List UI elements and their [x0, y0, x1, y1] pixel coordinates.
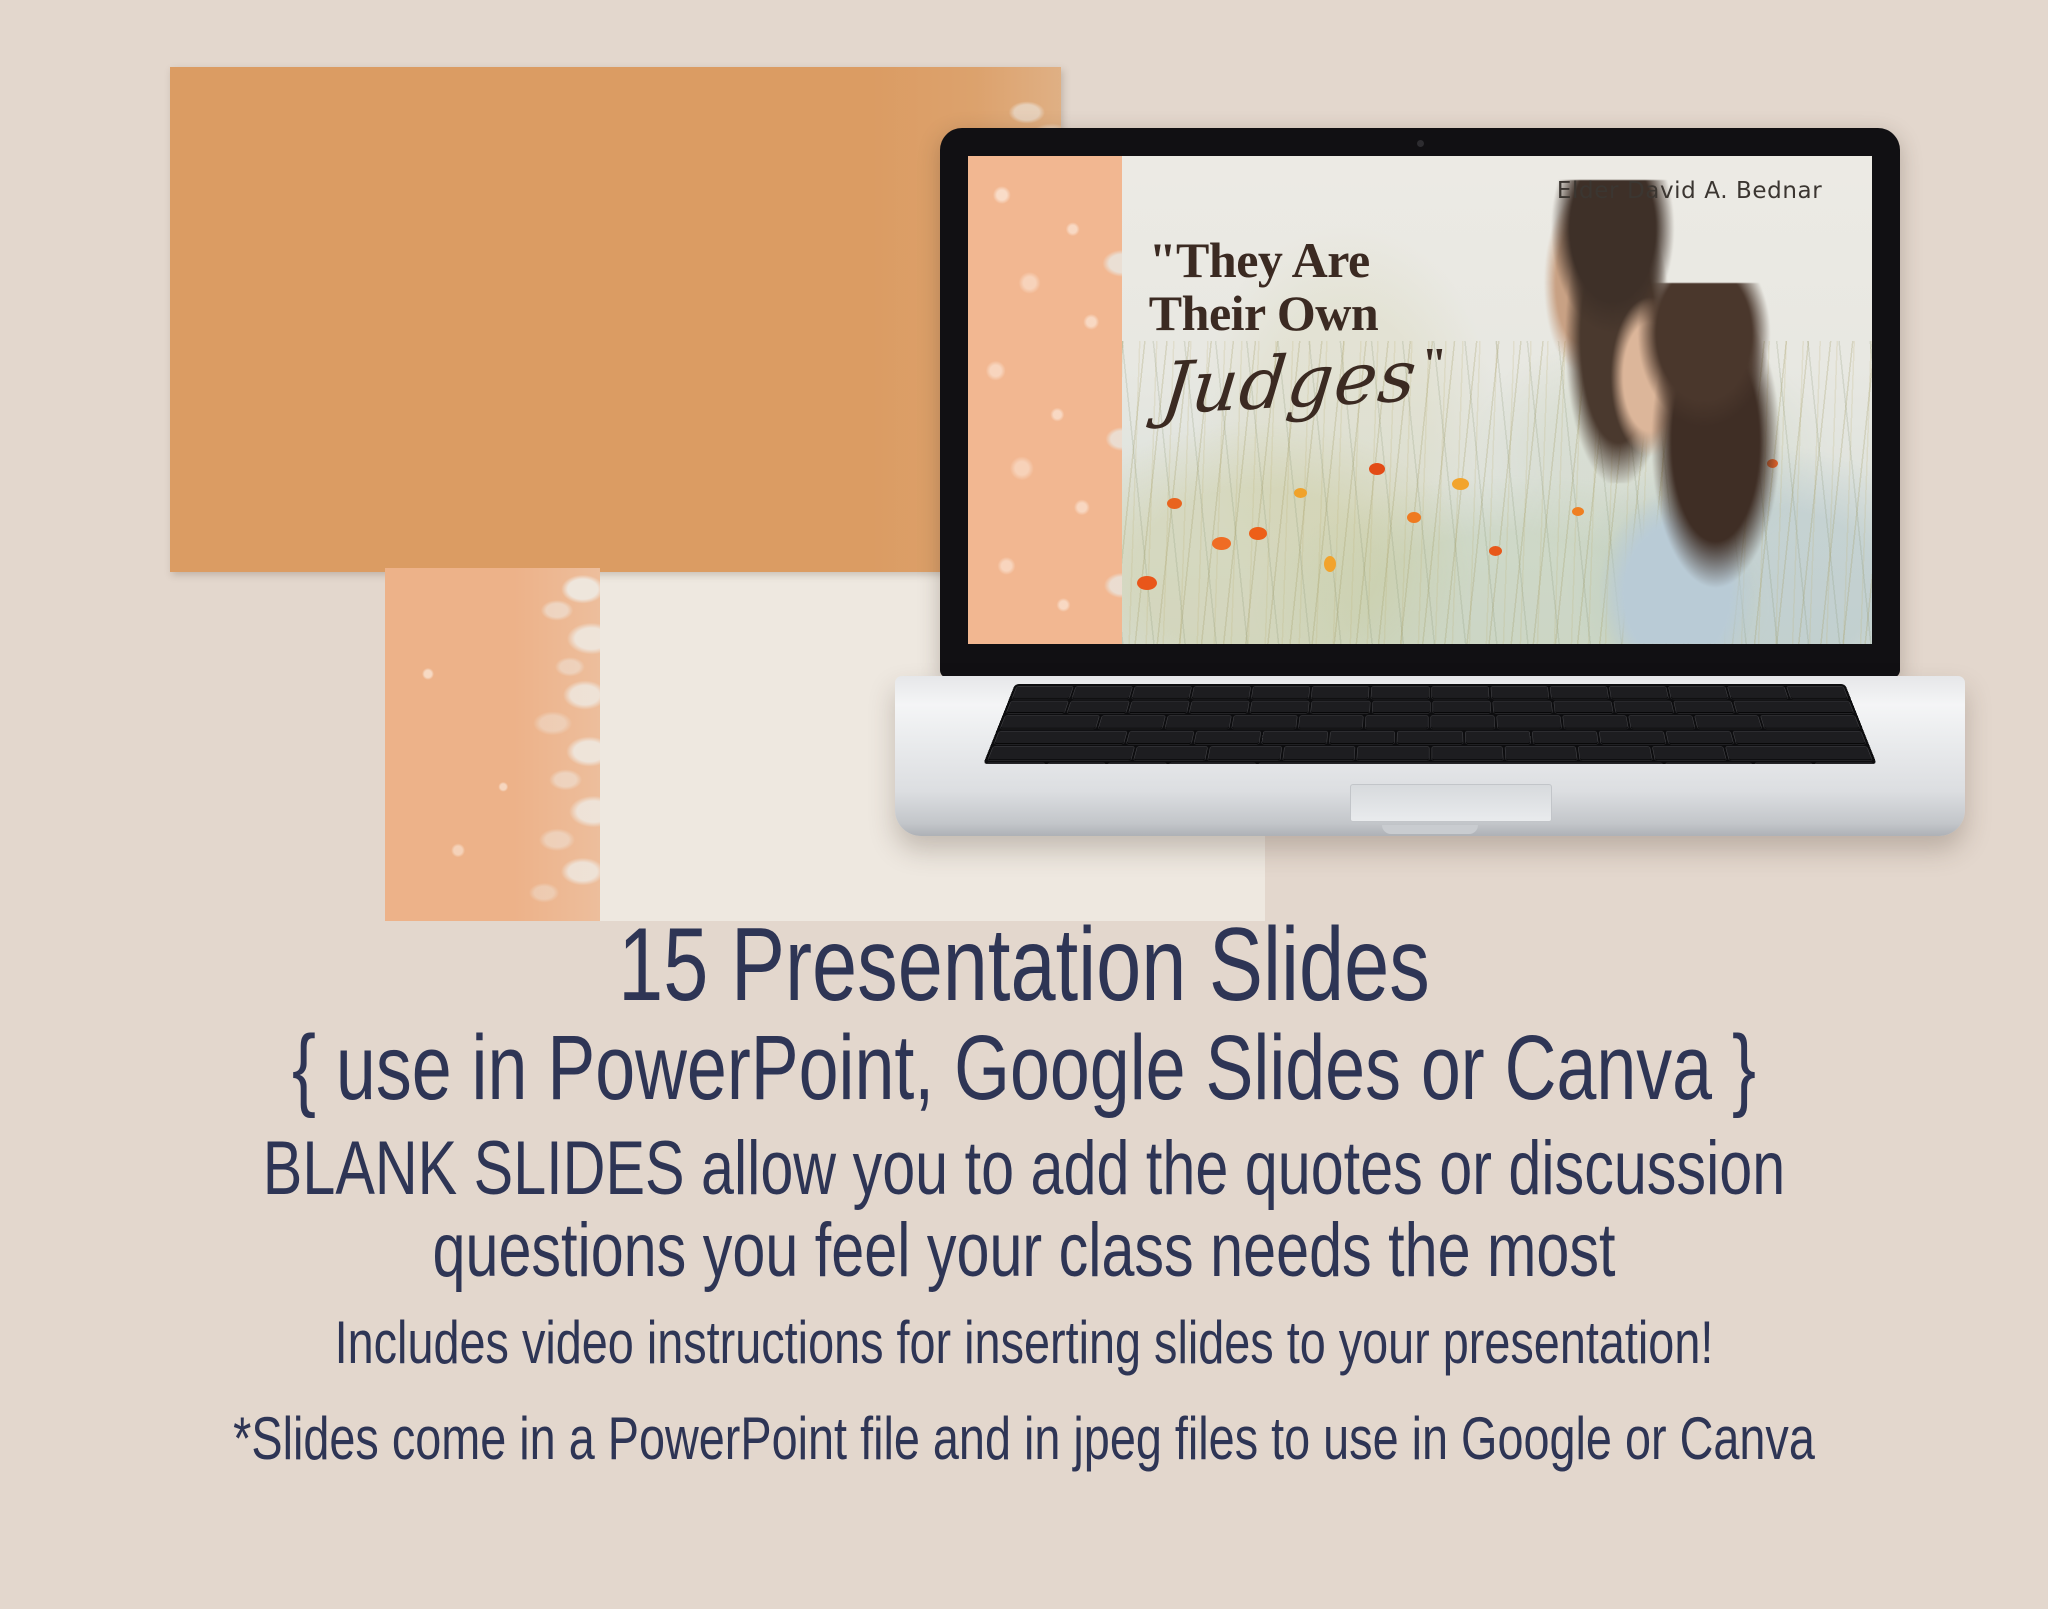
laptop-keyboard — [983, 684, 1877, 764]
key[interactable] — [1493, 701, 1552, 713]
poppy-flower-icon — [1452, 478, 1469, 490]
keyboard-row — [1007, 701, 1854, 713]
key[interactable] — [1194, 731, 1261, 744]
key[interactable] — [1465, 731, 1530, 744]
tab-key[interactable] — [1001, 716, 1100, 729]
keyboard-row — [1012, 686, 1847, 698]
key[interactable] — [1007, 701, 1069, 713]
key[interactable] — [1668, 686, 1728, 698]
slide-credit-text: Elder David A. Bednar — [1557, 178, 1822, 204]
key[interactable] — [1357, 747, 1428, 760]
key[interactable] — [1432, 716, 1495, 729]
figure-woman — [1596, 283, 1789, 644]
key[interactable] — [1208, 747, 1281, 760]
space-key[interactable] — [1257, 763, 1665, 764]
key[interactable] — [1432, 747, 1503, 760]
key[interactable] — [1012, 686, 1073, 698]
shift-key[interactable] — [1726, 747, 1872, 760]
key[interactable] — [1283, 747, 1355, 760]
peach-texture — [385, 568, 600, 921]
key[interactable] — [1134, 747, 1208, 760]
product-mockup-hero: Elder David A. Bednar "They Are Their Ow… — [0, 0, 2048, 930]
footnote: *Slides come in a PowerPoint file and in… — [225, 1406, 1822, 1472]
slide-title-line-2: Their Own — [1149, 287, 1511, 340]
key[interactable] — [1072, 686, 1132, 698]
shift-key[interactable] — [988, 747, 1134, 760]
key[interactable] — [1252, 686, 1310, 698]
key[interactable] — [1067, 701, 1128, 713]
poppy-flower-icon — [1212, 537, 1231, 550]
keyboard-row — [994, 731, 1865, 744]
key[interactable] — [1127, 731, 1194, 744]
key[interactable] — [1629, 716, 1695, 729]
option-key[interactable] — [1755, 763, 1817, 764]
slide-strip-texture — [968, 156, 1122, 644]
key[interactable] — [1666, 731, 1733, 744]
fn-key[interactable] — [983, 763, 1044, 764]
key[interactable] — [1599, 731, 1666, 744]
slide-peach-strip — [968, 156, 1122, 644]
key[interactable] — [1262, 731, 1328, 744]
key[interactable] — [1432, 686, 1489, 698]
key[interactable] — [1372, 686, 1429, 698]
key[interactable] — [1099, 716, 1166, 729]
poppy-flower-icon — [1407, 512, 1421, 523]
key[interactable] — [1491, 686, 1549, 698]
laptop-lid: Elder David A. Bednar "They Are Their Ow… — [940, 128, 1900, 678]
key[interactable] — [1398, 731, 1463, 744]
capslock-key[interactable] — [994, 731, 1127, 744]
slide-figures-illustration — [1527, 156, 1872, 644]
key[interactable] — [1550, 686, 1608, 698]
peach-watercolor-band — [385, 568, 600, 921]
key[interactable] — [1497, 716, 1561, 729]
key[interactable] — [1192, 686, 1251, 698]
key[interactable] — [1165, 716, 1231, 729]
poppy-flower-icon — [1294, 488, 1307, 498]
key[interactable] — [1505, 747, 1577, 760]
slide-title: "They Are Their Own Judges" — [1149, 234, 1511, 418]
slide-title-closing-quote: " — [1422, 338, 1447, 389]
backspace-key[interactable] — [1734, 701, 1853, 713]
laptop-trackpad[interactable] — [1350, 784, 1552, 822]
key[interactable] — [1609, 686, 1668, 698]
key[interactable] — [1614, 701, 1674, 713]
key[interactable] — [1312, 686, 1370, 698]
option-key[interactable] — [1105, 763, 1166, 764]
body-line-3: Includes video instructions for insertin… — [225, 1310, 1822, 1376]
body-line-2: questions you feel your class needs the … — [225, 1210, 1822, 1292]
laptop-screen: Elder David A. Bednar "They Are Their Ow… — [968, 156, 1872, 644]
key[interactable] — [1579, 747, 1652, 760]
control-key[interactable] — [1043, 763, 1105, 764]
key[interactable] — [1330, 731, 1395, 744]
key[interactable] — [1250, 701, 1309, 713]
key[interactable] — [1695, 716, 1762, 729]
key[interactable] — [1311, 701, 1370, 713]
slide-title-line-1: "They Are — [1149, 234, 1511, 287]
laptop-mockup: Elder David A. Bednar "They Are Their Ow… — [895, 128, 1965, 888]
poppy-flower-icon — [1249, 527, 1267, 540]
key[interactable] — [1189, 701, 1249, 713]
keyboard-row — [988, 747, 1872, 760]
key[interactable] — [1563, 716, 1628, 729]
command-key[interactable] — [1166, 763, 1256, 764]
key[interactable] — [1652, 747, 1726, 760]
slide-title-script-word: Judges — [1158, 340, 1420, 425]
keyboard-row — [983, 763, 1877, 764]
key[interactable] — [1372, 701, 1430, 713]
laptop-base — [895, 676, 1965, 836]
key[interactable] — [1553, 701, 1612, 713]
key[interactable] — [1674, 701, 1735, 713]
key[interactable] — [1132, 686, 1192, 698]
key[interactable] — [1433, 701, 1491, 713]
laptop-front-notch — [1382, 825, 1478, 834]
poppy-flower-icon — [1137, 576, 1157, 590]
headline: 15 Presentation Slides — [225, 912, 1822, 1018]
body-line-1: BLANK SLIDES allow you to add the quotes… — [225, 1128, 1822, 1210]
keyboard-row — [1001, 716, 1860, 729]
key[interactable] — [1532, 731, 1598, 744]
return-key[interactable] — [1733, 731, 1866, 744]
key[interactable] — [1365, 716, 1428, 729]
key[interactable] — [1760, 716, 1859, 729]
command-key[interactable] — [1665, 763, 1755, 764]
subheadline: { use in PowerPoint, Google Slides or Ca… — [225, 1022, 1822, 1116]
key[interactable] — [1232, 716, 1297, 729]
poppy-flower-icon — [1167, 498, 1182, 509]
webcam-icon — [1417, 140, 1424, 147]
key[interactable] — [1728, 686, 1788, 698]
key[interactable] — [1787, 686, 1848, 698]
product-description-copy: 15 Presentation Slides { use in PowerPoi… — [0, 912, 2048, 1472]
key[interactable] — [1128, 701, 1189, 713]
arrow-keys[interactable] — [1815, 763, 1876, 764]
key[interactable] — [1298, 716, 1362, 729]
